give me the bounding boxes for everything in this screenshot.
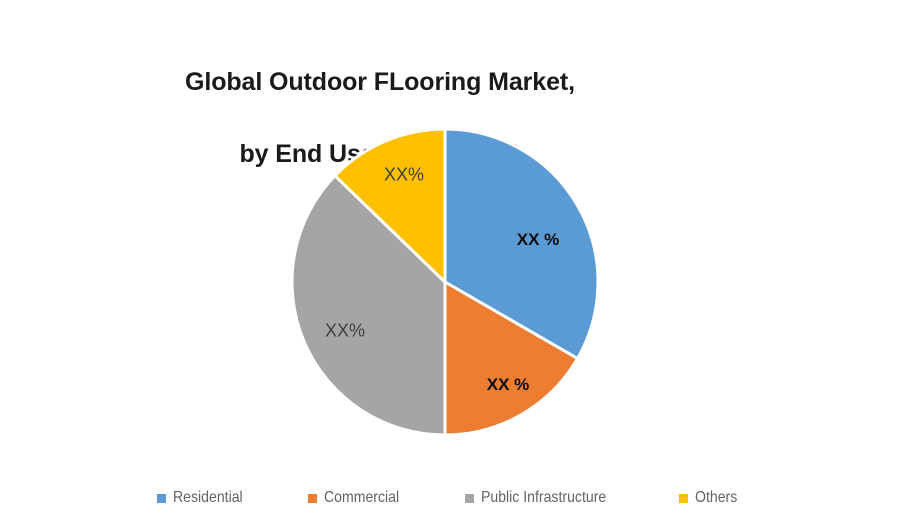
legend-swatch-icon [465, 494, 474, 503]
pie-svg [0, 0, 900, 470]
legend-item-others[interactable]: Others [679, 489, 743, 507]
legend-item-label: Commercial [324, 489, 399, 507]
legend-item-residential[interactable]: Residential [157, 489, 252, 507]
legend-item-public-infrastructure[interactable]: Public Infrastructure [465, 489, 623, 507]
legend-swatch-icon [679, 494, 688, 503]
data-label-residential: XX % [517, 230, 560, 250]
data-label-public-infrastructure: XX% [325, 321, 365, 342]
pie-chart-figure: Global Outdoor FLooring Market, by End U… [0, 0, 900, 525]
data-label-others: XX% [384, 165, 424, 186]
legend-swatch-icon [308, 494, 317, 503]
legend-item-label: Others [695, 489, 737, 507]
plot-area: XX %XX %XX%XX% [0, 0, 900, 470]
legend-item-label: Residential [173, 489, 243, 507]
legend-item-commercial[interactable]: Commercial [308, 489, 409, 507]
legend-item-label: Public Infrastructure [481, 489, 606, 507]
pie-slice-group [292, 129, 598, 435]
chart-legend: ResidentialCommercialPublic Infrastructu… [0, 489, 900, 507]
legend-swatch-icon [157, 494, 166, 503]
data-label-commercial: XX % [487, 375, 530, 395]
